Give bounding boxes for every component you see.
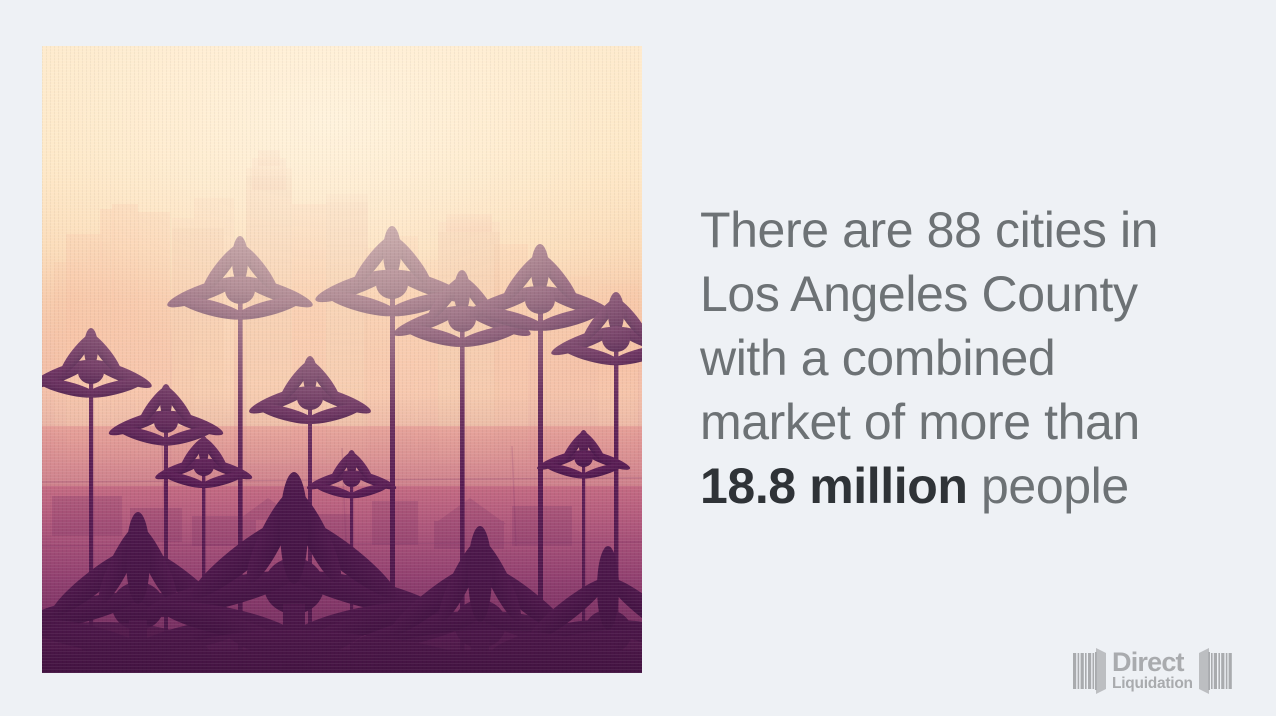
population-label: people [968, 458, 1129, 514]
logo-wordmark: Direct Liquidation [1112, 650, 1193, 692]
logo-word-liquidation: Liquidation [1112, 676, 1193, 692]
headline-line-5: 18.8 million people [700, 454, 1184, 518]
headline-line-3: with a combined [700, 326, 1184, 390]
door-barcode-icon [1199, 648, 1232, 694]
population-figure: 18.8 million [700, 458, 968, 514]
headline-line-4: market of more than [700, 390, 1184, 454]
photo-grain-texture [42, 46, 642, 673]
barcode-door-icon [1073, 648, 1106, 694]
headline-block: There are 88 cities in Los Angeles Count… [700, 198, 1184, 518]
headline-line-1: There are 88 cities in [700, 198, 1184, 262]
headline-line-2: Los Angeles County [700, 262, 1184, 326]
logo-word-direct: Direct [1112, 650, 1193, 675]
brand-logo[interactable]: Direct Liquidation [1073, 645, 1238, 697]
hero-image [42, 46, 642, 673]
